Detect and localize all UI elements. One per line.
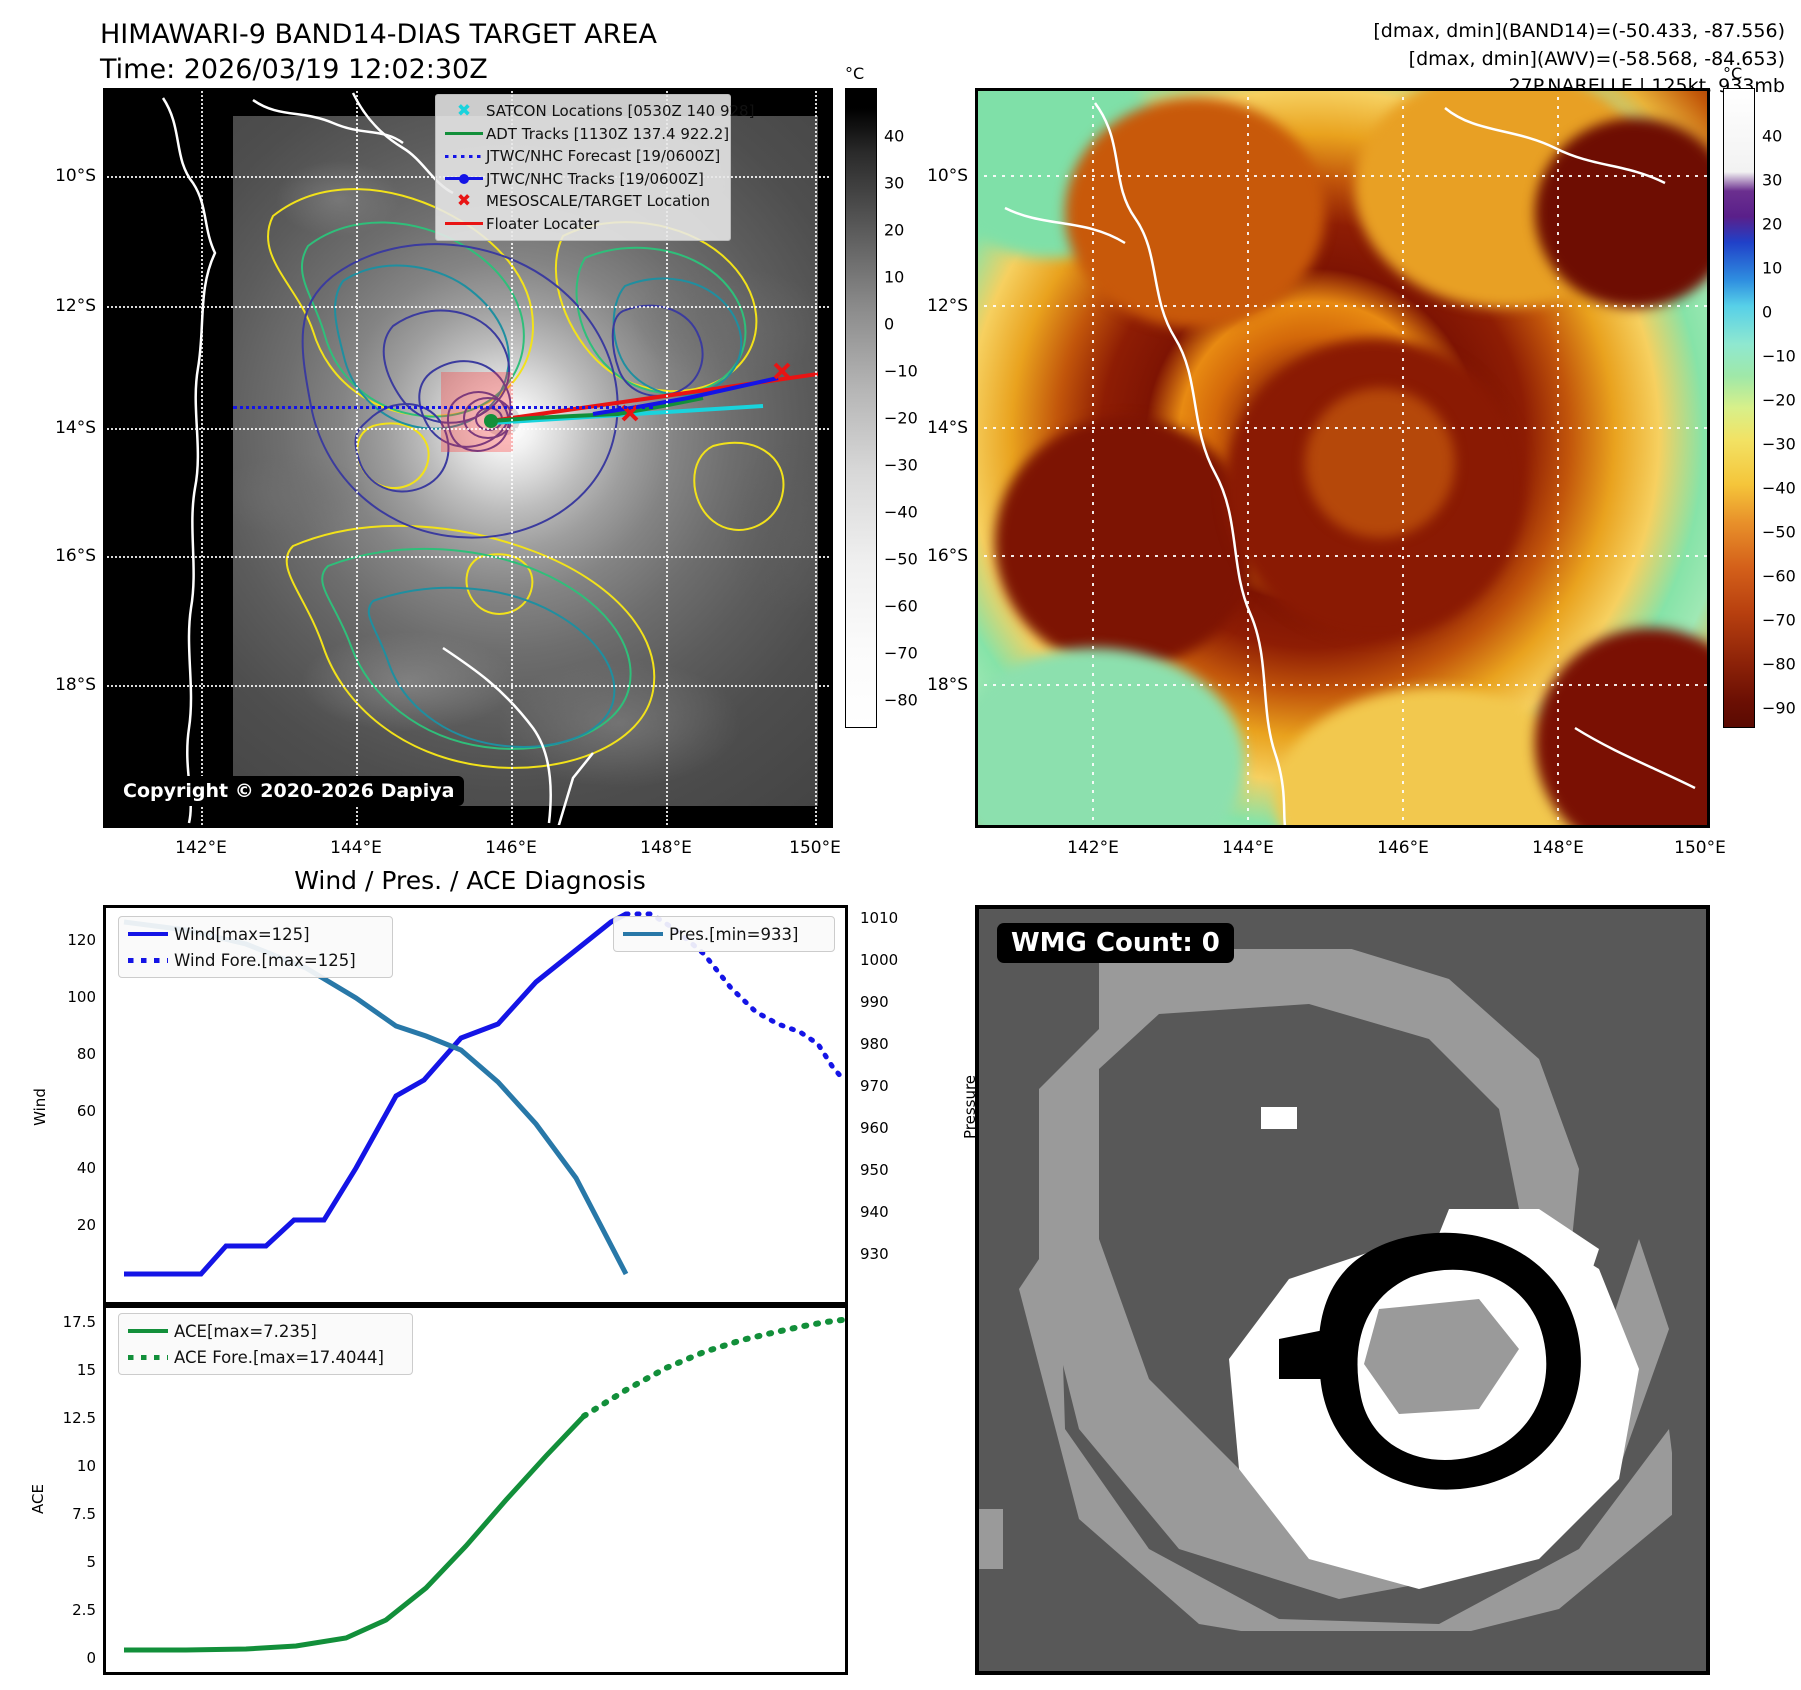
legend-item: JTWC/NHC Tracks [19/0600Z] — [442, 168, 722, 191]
wv-xtick: 148°E — [1532, 838, 1584, 858]
wind-solid-line-icon — [128, 932, 174, 936]
ir-xtick: 150°E — [789, 838, 841, 858]
legend-item: Wind Fore.[max=125] — [128, 947, 383, 973]
ir-satellite-map[interactable]: ✖ SATCON Locations [0530Z 140 928] ADT T… — [103, 88, 833, 828]
wind-ytick: 40 — [38, 1159, 96, 1177]
ace-ytick: 5 — [30, 1553, 96, 1571]
legend-item: ADT Tracks [1130Z 137.4 922.2] — [442, 123, 722, 146]
ace-ytick: 17.5 — [30, 1313, 96, 1331]
ir-xtick: 146°E — [485, 838, 537, 858]
legend-label: ADT Tracks [1130Z 137.4 922.2] — [486, 125, 729, 143]
ir-cbar-tick: 40 — [884, 127, 904, 146]
wv-ytick: 16°S — [910, 546, 968, 566]
mesoscale-target-marker-icon: ✖ — [442, 193, 486, 210]
wv-cbar-tick: −50 — [1762, 523, 1796, 542]
wv-xtick: 150°E — [1674, 838, 1726, 858]
ir-ytick: 16°S — [38, 546, 96, 566]
wv-cbar-tick: 30 — [1762, 171, 1782, 190]
wind-pres-ace-title: Wind / Pres. / ACE Diagnosis — [294, 866, 646, 895]
legend-item: Wind[max=125] — [128, 921, 383, 947]
jtwc-forecast-dotted-icon — [442, 155, 486, 158]
wmg-count-badge: WMG Count: 0 — [997, 923, 1234, 963]
gridline-150e — [815, 88, 817, 828]
ace-solid-line-icon — [128, 1329, 174, 1333]
ir-ytick: 18°S — [38, 675, 96, 695]
wind-forecast-dotted-icon — [128, 958, 174, 963]
ace-ytick: 2.5 — [30, 1601, 96, 1619]
dmax-dmin-band14: [dmax, dmin](BAND14)=(-50.433, -87.556) — [1373, 18, 1785, 46]
wv-ytick: 14°S — [910, 418, 968, 438]
ir-xtick: 144°E — [330, 838, 382, 858]
copyright-badge: Copyright © 2020-2026 Dapiya — [113, 776, 464, 806]
legend-item: JTWC/NHC Forecast [19/0600Z] — [442, 145, 722, 168]
legend-item: ✖ SATCON Locations [0530Z 140 928] — [442, 100, 722, 123]
legend-item: ✖ MESOSCALE/TARGET Location — [442, 190, 722, 213]
ir-xtick: 148°E — [640, 838, 692, 858]
ace-ytick: 12.5 — [30, 1409, 96, 1427]
page-title: HIMAWARI-9 BAND14-DIAS TARGET AREA Time:… — [100, 18, 657, 87]
wv-satellite-map[interactable] — [975, 88, 1710, 828]
ace-ytick: 10 — [30, 1457, 96, 1475]
wv-cbar-tick: 10 — [1762, 259, 1782, 278]
legend-item: ACE[max=7.235] — [128, 1318, 403, 1344]
pressure-ytick: 980 — [860, 1035, 922, 1053]
wv-cbar-tick: 20 — [1762, 215, 1782, 234]
ir-ytick: 12°S — [38, 296, 96, 316]
legend-label: JTWC/NHC Forecast [19/0600Z] — [486, 147, 720, 165]
wv-cbar-tick: −80 — [1762, 655, 1796, 674]
pressure-ytick: 990 — [860, 993, 922, 1011]
ace-observed-line — [124, 1416, 584, 1650]
ir-cbar-tick: −40 — [884, 503, 918, 522]
legend-item: Floater Locater — [442, 213, 722, 236]
legend-label: JTWC/NHC Tracks [19/0600Z] — [486, 170, 704, 188]
ace-legend: ACE[max=7.235] ACE Fore.[max=17.4044] — [118, 1313, 413, 1375]
wind-ytick: 120 — [38, 931, 96, 949]
pressure-ytick: 1010 — [860, 909, 922, 927]
wv-cbar-tick: −30 — [1762, 435, 1796, 454]
pressure-ytick: 970 — [860, 1077, 922, 1095]
legend-label: Wind[max=125] — [174, 925, 310, 944]
wv-cbar-tick: 40 — [1762, 127, 1782, 146]
title-line-2: Time: 2026/03/19 12:02:30Z — [100, 53, 657, 88]
wv-image — [975, 88, 1710, 828]
legend-label: MESOSCALE/TARGET Location — [486, 192, 710, 210]
ace-ytick: 15 — [30, 1361, 96, 1379]
wv-cbar-tick: 0 — [1762, 303, 1772, 322]
ir-xtick: 142°E — [175, 838, 227, 858]
wind-legend: Wind[max=125] Wind Fore.[max=125] — [118, 916, 393, 978]
ace-forecast-dotted-icon — [128, 1355, 174, 1360]
ir-ytick: 14°S — [38, 418, 96, 438]
pressure-ytick: 960 — [860, 1119, 922, 1137]
jtwc-track-line-dot-icon — [442, 177, 486, 180]
wv-ytick: 12°S — [910, 296, 968, 316]
legend-label: ACE[max=7.235] — [174, 1322, 317, 1341]
wv-ytick: 10°S — [910, 166, 968, 186]
wv-cbar-tick: −70 — [1762, 611, 1796, 630]
pressure-legend: Pres.[min=933] — [613, 916, 835, 952]
ir-cbar-tick: 10 — [884, 268, 904, 287]
legend-item: ACE Fore.[max=17.4044] — [128, 1344, 403, 1370]
wv-cbar-tick: −10 — [1762, 347, 1796, 366]
wv-ytick: 18°S — [910, 675, 968, 695]
legend-label: Pres.[min=933] — [669, 925, 798, 944]
jtwc-forecast-line — [233, 406, 653, 409]
gridline-144e — [356, 88, 358, 828]
wv-cbar-tick: −40 — [1762, 479, 1796, 498]
ir-cbar-tick: −60 — [884, 597, 918, 616]
ir-cbar-tick: −10 — [884, 362, 918, 381]
pressure-ytick: 930 — [860, 1245, 922, 1263]
ir-colorbar-unit: °C — [845, 64, 864, 83]
ir-cbar-tick: −30 — [884, 456, 918, 475]
wmg-pixel-map — [979, 909, 1706, 1671]
wv-colorbar-unit: °C — [1723, 64, 1742, 83]
wv-cbar-tick: −90 — [1762, 699, 1796, 718]
wind-ytick: 20 — [38, 1216, 96, 1234]
wv-cbar-tick: −20 — [1762, 391, 1796, 410]
pressure-ytick: 950 — [860, 1161, 922, 1179]
adt-track-line-icon — [442, 132, 486, 135]
satcon-marker-icon: ✖ — [442, 103, 486, 120]
wind-ytick: 80 — [38, 1045, 96, 1063]
legend-label: Floater Locater — [486, 215, 599, 233]
floater-locater-line-icon — [442, 222, 486, 225]
wv-xtick: 144°E — [1222, 838, 1274, 858]
legend-label: Wind Fore.[max=125] — [174, 951, 356, 970]
wv-cbar-tick: −60 — [1762, 567, 1796, 586]
pressure-solid-line-icon — [623, 932, 669, 936]
ir-cbar-tick: 0 — [884, 315, 894, 334]
pressure-ytick: 940 — [860, 1203, 922, 1221]
ace-ytick: 7.5 — [30, 1505, 96, 1523]
ir-cbar-tick: 20 — [884, 221, 904, 240]
wv-coastline-overlay — [975, 88, 1710, 828]
gridline-18s — [103, 685, 833, 687]
gridline-16s — [103, 556, 833, 558]
ir-cbar-tick: −70 — [884, 644, 918, 663]
ir-legend: ✖ SATCON Locations [0530Z 140 928] ADT T… — [435, 94, 731, 241]
legend-label: SATCON Locations [0530Z 140 928] — [486, 102, 754, 120]
ace-ytick: 0 — [30, 1649, 96, 1667]
ir-image: ✖ SATCON Locations [0530Z 140 928] ADT T… — [103, 88, 833, 828]
legend-item: Pres.[min=933] — [623, 921, 825, 947]
title-line-1: HIMAWARI-9 BAND14-DIAS TARGET AREA — [100, 18, 657, 53]
ace-forecast-line — [584, 1320, 842, 1416]
wv-xtick: 146°E — [1377, 838, 1429, 858]
wind-ytick: 100 — [38, 988, 96, 1006]
wv-xtick: 142°E — [1067, 838, 1119, 858]
ir-ytick: 10°S — [38, 166, 96, 186]
wv-colorbar — [1723, 88, 1755, 728]
legend-label: ACE Fore.[max=17.4044] — [174, 1348, 384, 1367]
wind-ytick: 60 — [38, 1102, 96, 1120]
gridline-142e — [201, 88, 203, 828]
pressure-ytick: 1000 — [860, 951, 922, 969]
wmg-cloud-cluster-panel[interactable]: WMG Count: 0 — [975, 905, 1710, 1675]
ir-colorbar — [845, 88, 877, 728]
ir-cbar-tick: 30 — [884, 174, 904, 193]
gridline-14s — [103, 428, 833, 430]
gridline-12s — [103, 306, 833, 308]
